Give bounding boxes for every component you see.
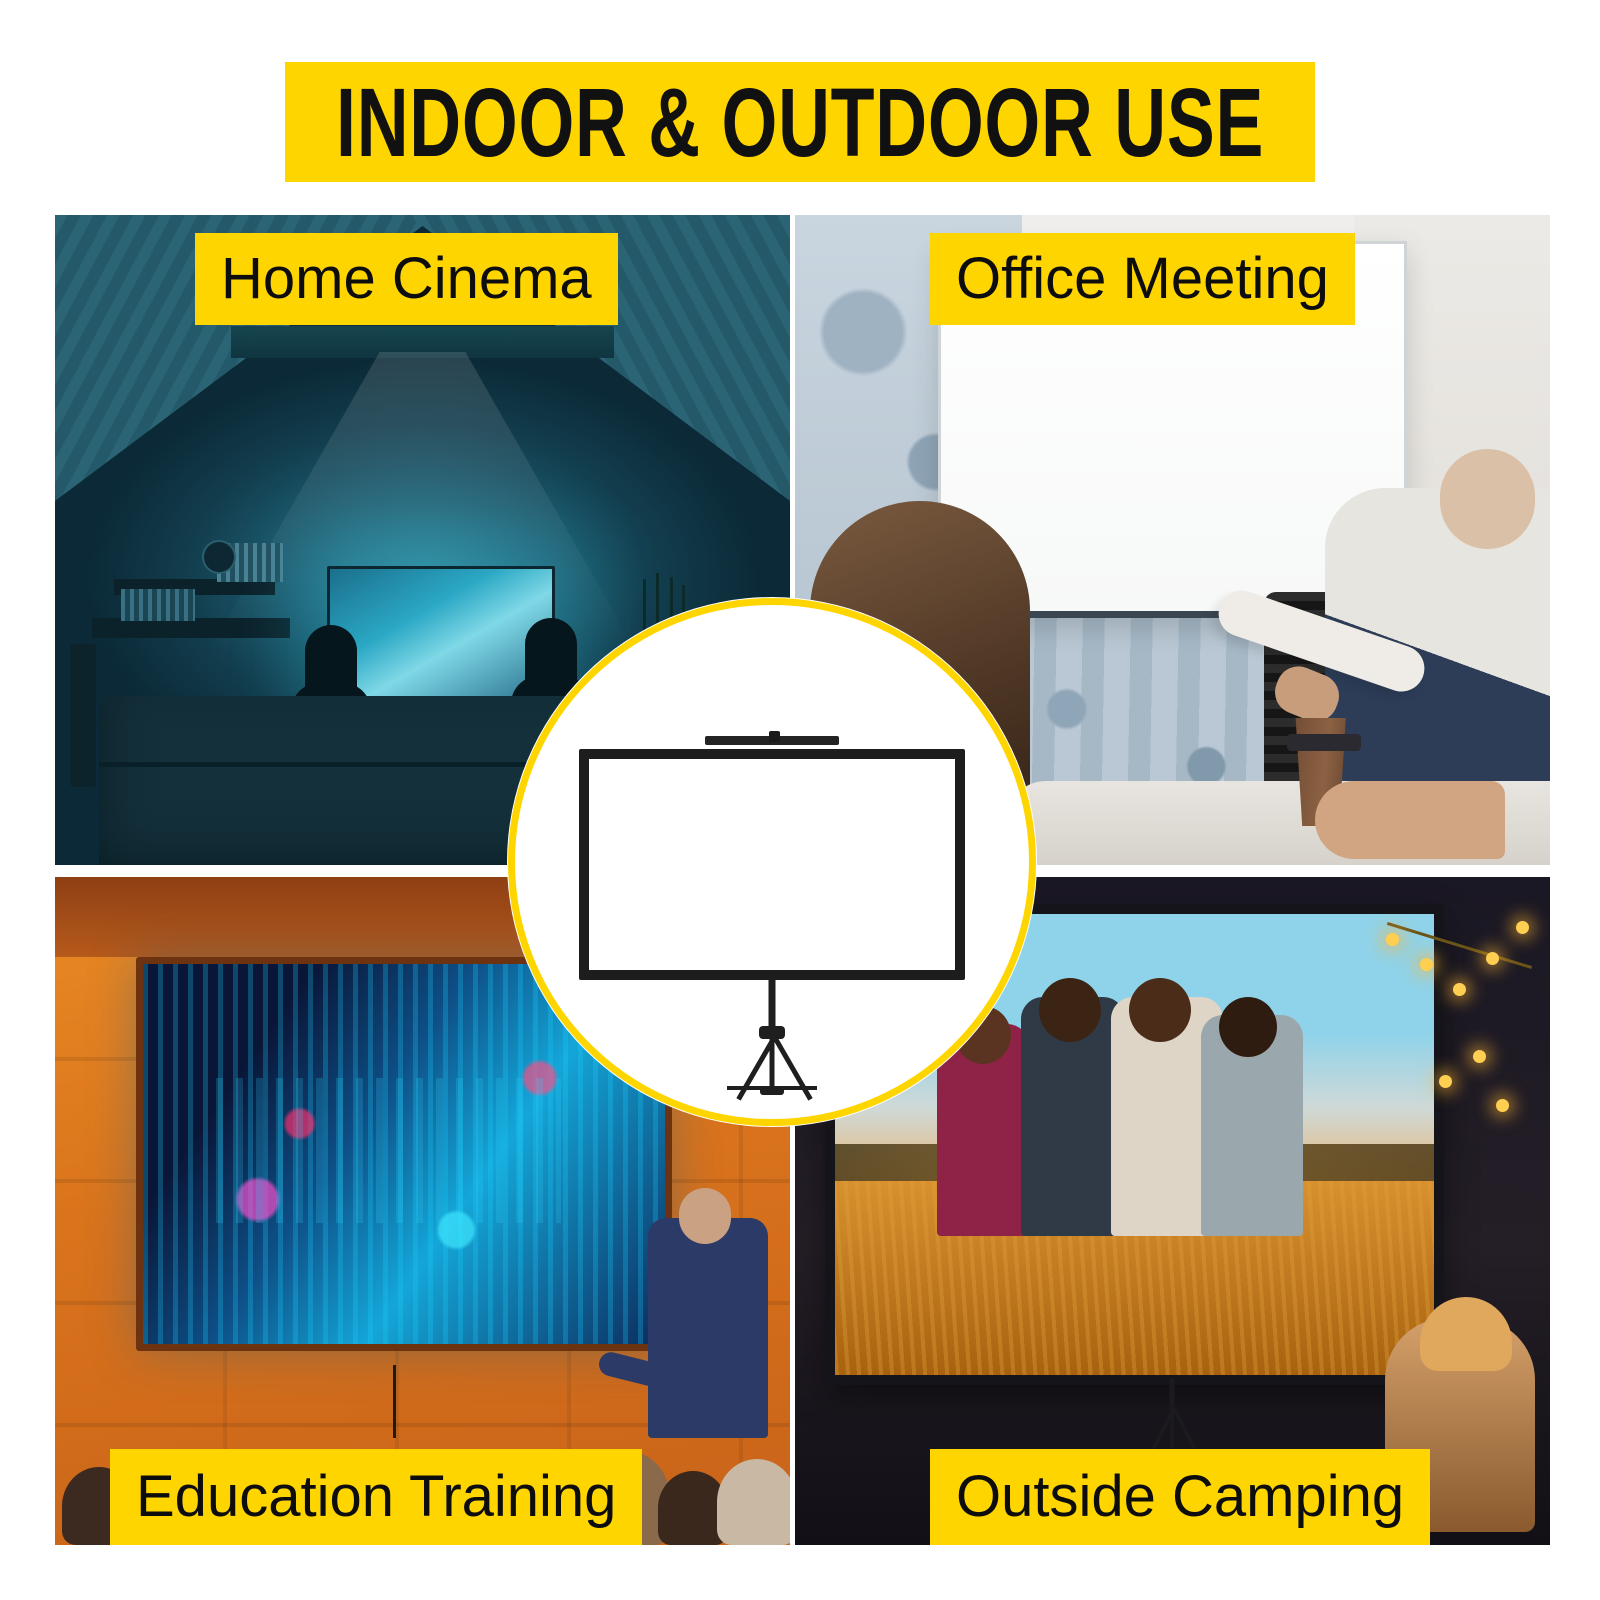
label-outside-camping-text: Outside Camping: [956, 1468, 1404, 1526]
label-home-cinema-text: Home Cinema: [221, 250, 592, 308]
wall-clock-icon: [202, 540, 236, 574]
books-lower: [121, 589, 195, 622]
label-outside-camping: Outside Camping: [930, 1449, 1430, 1545]
tripod-center-post: [769, 980, 776, 1031]
string-lights: [1376, 890, 1542, 1197]
seated-person-head: [1420, 1297, 1512, 1371]
title-banner: INDOOR & OUTDOOR USE: [285, 62, 1315, 182]
tripod-projector-screen: [515, 605, 1029, 1119]
man-head: [1440, 449, 1535, 549]
label-office-meeting: Office Meeting: [930, 233, 1355, 325]
product-feature-image: INDOOR & OUTDOOR USE Home Cinema: [0, 0, 1600, 1600]
coffee-cup-lid: [1287, 734, 1361, 751]
page-title: INDOOR & OUTDOOR USE: [336, 74, 1264, 171]
resting-hand: [1315, 781, 1505, 859]
presenter-head: [679, 1188, 731, 1244]
label-education-training: Education Training: [110, 1449, 642, 1545]
product-inset-circle: [508, 598, 1036, 1126]
friend-2-head: [1039, 978, 1101, 1042]
data-visualisation-graphic: [216, 1078, 561, 1222]
floor-speaker: [70, 644, 96, 787]
tripod-brace-collar: [760, 1086, 784, 1095]
label-home-cinema: Home Cinema: [195, 233, 618, 325]
screen-frame: [579, 749, 965, 980]
friend-4-head: [1219, 997, 1277, 1057]
label-office-meeting-text: Office Meeting: [956, 250, 1329, 308]
label-education-training-text: Education Training: [136, 1468, 616, 1526]
screen-top-mount-bar: [705, 736, 839, 745]
friend-3-head: [1129, 978, 1191, 1042]
